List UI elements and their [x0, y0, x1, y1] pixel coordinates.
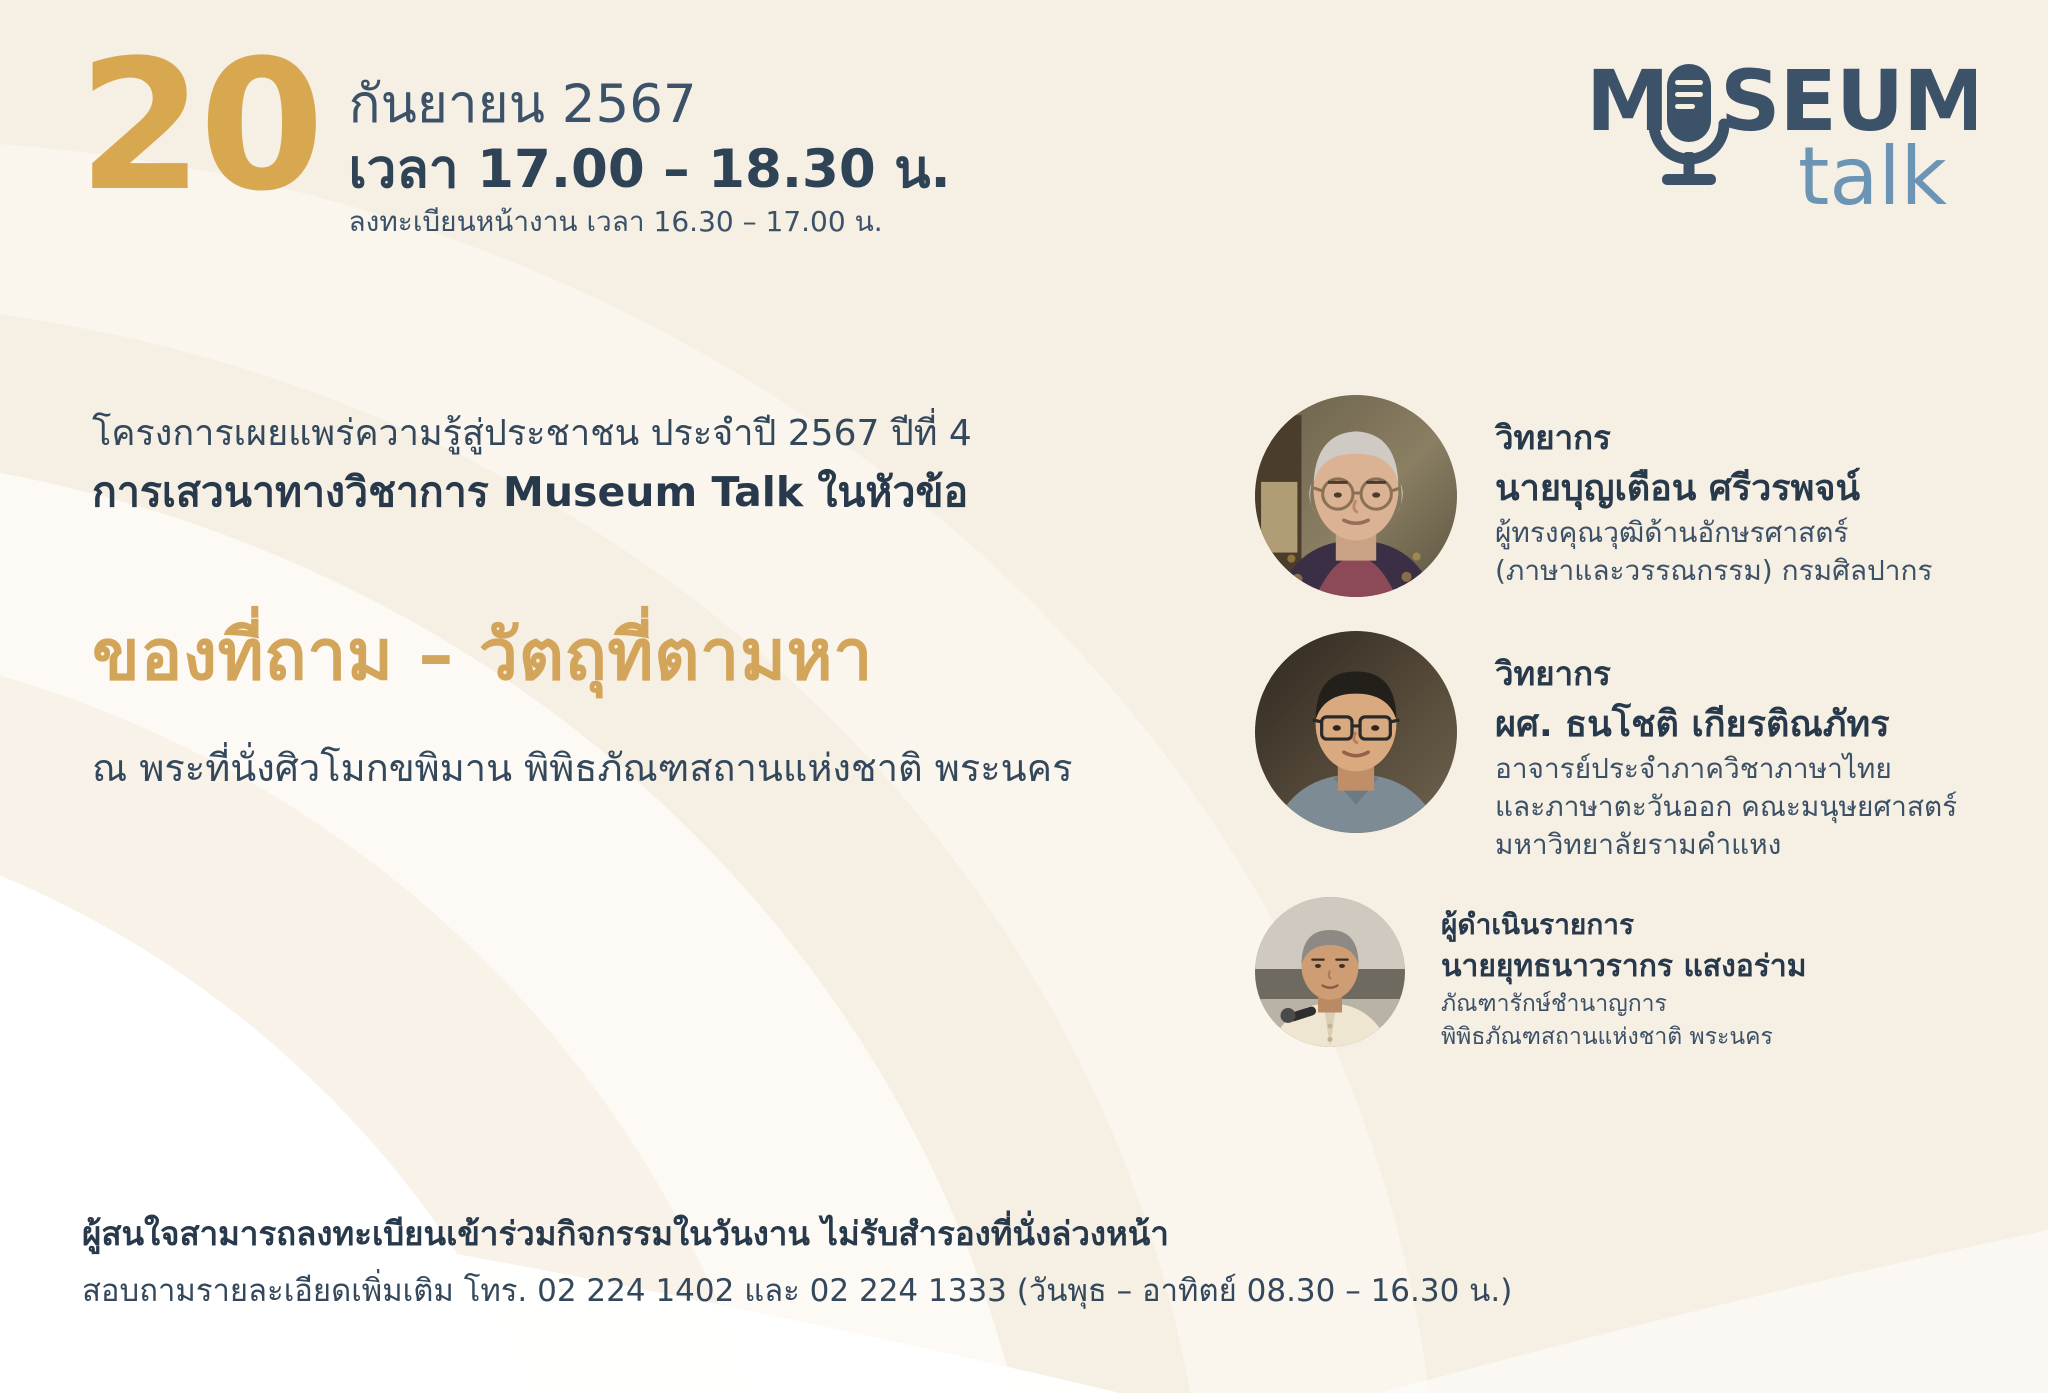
- moderator-item: ผู้ดำเนินรายการ นายยุทธนาวรากร แสงอร่าม …: [1255, 897, 1995, 1053]
- logo-svg: M SEUM talk: [1586, 52, 1976, 212]
- speaker-name: นายบุญเตือน ศรีวรพจน์: [1495, 465, 1933, 513]
- registration-time: ลงทะเบียนหน้างาน เวลา 16.30 – 17.00 น.: [349, 204, 951, 240]
- event-month-year: กันยายน 2567: [349, 74, 951, 136]
- main-content: โครงการเผยแพร่ความรู้สู่ประชาชน ประจำปี …: [92, 410, 1202, 794]
- portrait-moderator: [1255, 897, 1405, 1047]
- moderator-affiliation-line2: พิพิธภัณฑสถานแห่งชาติ พระนคร: [1441, 1022, 1807, 1053]
- project-line: โครงการเผยแพร่ความรู้สู่ประชาชน ประจำปี …: [92, 410, 1202, 458]
- date-block: 20 กันยายน 2567 เวลา 17.00 – 18.30 น. ลง…: [78, 52, 951, 240]
- footer-registration-note: ผู้สนใจสามารถลงทะเบียนเข้าร่วมกิจกรรมในว…: [82, 1209, 1582, 1259]
- moderator-role: ผู้ดำเนินรายการ: [1441, 907, 1807, 943]
- museum-talk-logo: M SEUM talk: [1586, 52, 1976, 212]
- speaker-name: ผศ. ธนโชติ เกียรติณภัทร: [1495, 701, 1957, 749]
- speaker-list: วิทยากร นายบุญเตือน ศรีวรพจน์ ผู้ทรงคุณว…: [1255, 395, 1995, 1087]
- footer-info: ผู้สนใจสามารถลงทะเบียนเข้าร่วมกิจกรรมในว…: [82, 1209, 1582, 1315]
- portrait-3-svg: [1255, 897, 1405, 1047]
- speaker-affiliation-line3: มหาวิทยาลัยรามคำแหง: [1495, 827, 1957, 863]
- portrait-1-svg: [1255, 395, 1457, 597]
- speaker-affiliation-line2: (ภาษาและวรรณกรรม) กรมศิลปากร: [1495, 553, 1933, 589]
- speaker-text: วิทยากร นายบุญเตือน ศรีวรพจน์ ผู้ทรงคุณว…: [1495, 395, 1933, 589]
- topic-title: ของที่ถาม – วัตถุที่ตามหา: [92, 612, 1202, 698]
- venue-line: ณ พระที่นั่งศิวโมกขพิมาน พิพิธภัณฑสถานแห…: [92, 742, 1202, 794]
- portrait-speaker-1: [1255, 395, 1457, 597]
- speaker-affiliation-line1: ผู้ทรงคุณวุฒิด้านอักษรศาสตร์: [1495, 515, 1933, 551]
- portrait-2-svg: [1255, 631, 1457, 833]
- speaker-text: วิทยากร ผศ. ธนโชติ เกียรติณภัทร อาจารย์ป…: [1495, 631, 1957, 863]
- speaker-role: วิทยากร: [1495, 653, 1957, 695]
- speaker-item: วิทยากร ผศ. ธนโชติ เกียรติณภัทร อาจารย์ป…: [1255, 631, 1995, 863]
- speaker-affiliation-line1: อาจารย์ประจำภาควิชาภาษาไทย: [1495, 751, 1957, 787]
- speaker-affiliation-line2: และภาษาตะวันออก คณะมนุษยศาสตร์: [1495, 789, 1957, 825]
- moderator-text: ผู้ดำเนินรายการ นายยุทธนาวรากร แสงอร่าม …: [1441, 897, 1807, 1053]
- portrait-speaker-2: [1255, 631, 1457, 833]
- date-details: กันยายน 2567 เวลา 17.00 – 18.30 น. ลงทะเ…: [349, 52, 951, 240]
- event-poster: 20 กันยายน 2567 เวลา 17.00 – 18.30 น. ลง…: [0, 0, 2048, 1393]
- forum-line: การเสวนาทางวิชาการ Museum Talk ในหัวข้อ: [92, 464, 1202, 520]
- logo-word-talk: talk: [1798, 130, 1948, 212]
- moderator-name: นายยุทธนาวรากร แสงอร่าม: [1441, 947, 1807, 987]
- speaker-item: วิทยากร นายบุญเตือน ศรีวรพจน์ ผู้ทรงคุณว…: [1255, 395, 1995, 597]
- moderator-affiliation-line1: ภัณฑารักษ์ชำนาญการ: [1441, 989, 1807, 1020]
- speaker-role: วิทยากร: [1495, 417, 1933, 459]
- event-time: เวลา 17.00 – 18.30 น.: [349, 138, 951, 202]
- footer-contact-note: สอบถามรายละเอียดเพิ่มเติม โทร. 02 224 14…: [82, 1267, 1582, 1315]
- event-day-number: 20: [78, 52, 321, 202]
